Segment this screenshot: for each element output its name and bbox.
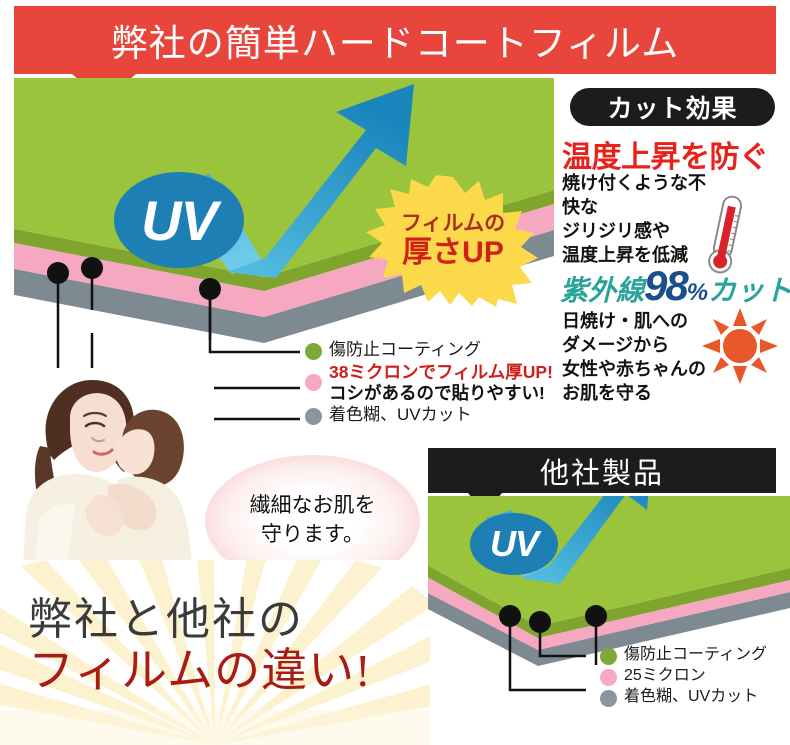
uv-body-line: ダメージから <box>562 334 712 358</box>
legend-item: 38ミクロンでフィルム厚UP! コシがあるので貼りやすい! <box>305 362 553 405</box>
legend-item: 傷防止コーティング <box>600 645 767 665</box>
legend-label: 傷防止コーティング <box>329 340 481 361</box>
uv-heading-suffix: カット <box>708 269 790 309</box>
legend-dot-gray <box>600 690 617 707</box>
uv-heading-prefix: 紫外線 <box>560 269 644 309</box>
legend-dot-pink <box>305 374 322 391</box>
bottom-headline-line-1: 弊社と他社の <box>28 598 418 642</box>
legend-dot-gray <box>305 408 322 425</box>
legend-dot-green <box>600 648 617 665</box>
badge-line-1: フィルムの <box>401 213 505 235</box>
badge-text: フィルムの 厚さUP <box>362 175 544 307</box>
bottom-headline: 弊社と他社の フィルムの違い! <box>28 598 418 694</box>
uv-body-line: 女性や赤ちゃんの <box>562 358 712 382</box>
legend-label-highlight: 38ミクロンでフィルム厚UP! <box>329 362 553 383</box>
heat-body-line: 焼け付くような不快な <box>562 172 712 220</box>
uv-body-line: お肌を守る <box>562 382 712 406</box>
legend-label: 着色糊、UVカット <box>329 405 472 426</box>
heat-body-line: ジリジリ感や <box>562 220 712 244</box>
uv-label-other: UV <box>470 513 558 575</box>
infographic-page: 弊社の簡単ハードコートフィルム <box>0 0 790 745</box>
legend-label-group: 38ミクロンでフィルム厚UP! コシがあるので貼りやすい! <box>329 362 553 405</box>
header-banner: 弊社の簡単ハードコートフィルム <box>14 6 776 74</box>
bottom-headline-line-2: フィルムの違い! <box>28 648 418 694</box>
uv-heading-number: 98 <box>644 262 687 310</box>
uv-cut-heading: 紫外線 98 % カット <box>560 262 790 304</box>
uv-heading-percent: % <box>687 279 708 307</box>
legend-dot-pink <box>600 669 617 686</box>
bubble-line-1: 繊細なお肌を <box>250 492 376 521</box>
other-legend: 傷防止コーティング 25ミクロン 着色糊、UVカット <box>600 645 767 708</box>
thickness-up-badge: フィルムの 厚さUP <box>362 175 544 307</box>
page-title: 弊社の簡単ハードコートフィルム <box>14 6 776 74</box>
legend-item: 着色糊、UVカット <box>305 405 553 426</box>
main-legend: 傷防止コーティング 38ミクロンでフィルム厚UP! コシがあるので貼りやすい! … <box>305 340 553 427</box>
legend-label: 着色糊、UVカット <box>624 687 758 707</box>
uv-body-line: 日焼け・肌への <box>562 310 712 334</box>
legend-label: 25ミクロン <box>624 666 706 686</box>
badge-line-2: 厚さUP <box>402 237 504 269</box>
heat-heading: 温度上昇を防ぐ <box>562 132 784 176</box>
heat-body-text: 焼け付くような不快な ジリジリ感や 温度上昇を低減 <box>562 172 712 268</box>
other-product-banner: 他社製品 <box>428 448 776 493</box>
legend-label-bold: コシがあるので貼りやすい! <box>329 383 553 404</box>
cut-effect-pill: カット効果 <box>570 88 775 126</box>
uv-body-text: 日焼け・肌への ダメージから 女性や赤ちゃんの お肌を守る <box>562 310 712 406</box>
sun-icon <box>702 308 778 384</box>
legend-item: 着色糊、UVカット <box>600 687 767 707</box>
legend-label: 傷防止コーティング <box>624 645 767 665</box>
legend-item: 25ミクロン <box>600 666 767 686</box>
bubble-line-2: 守ります。 <box>261 521 364 550</box>
legend-item: 傷防止コーティング <box>305 340 553 361</box>
uv-label-main: UV <box>114 172 244 268</box>
legend-dot-green <box>305 343 322 360</box>
